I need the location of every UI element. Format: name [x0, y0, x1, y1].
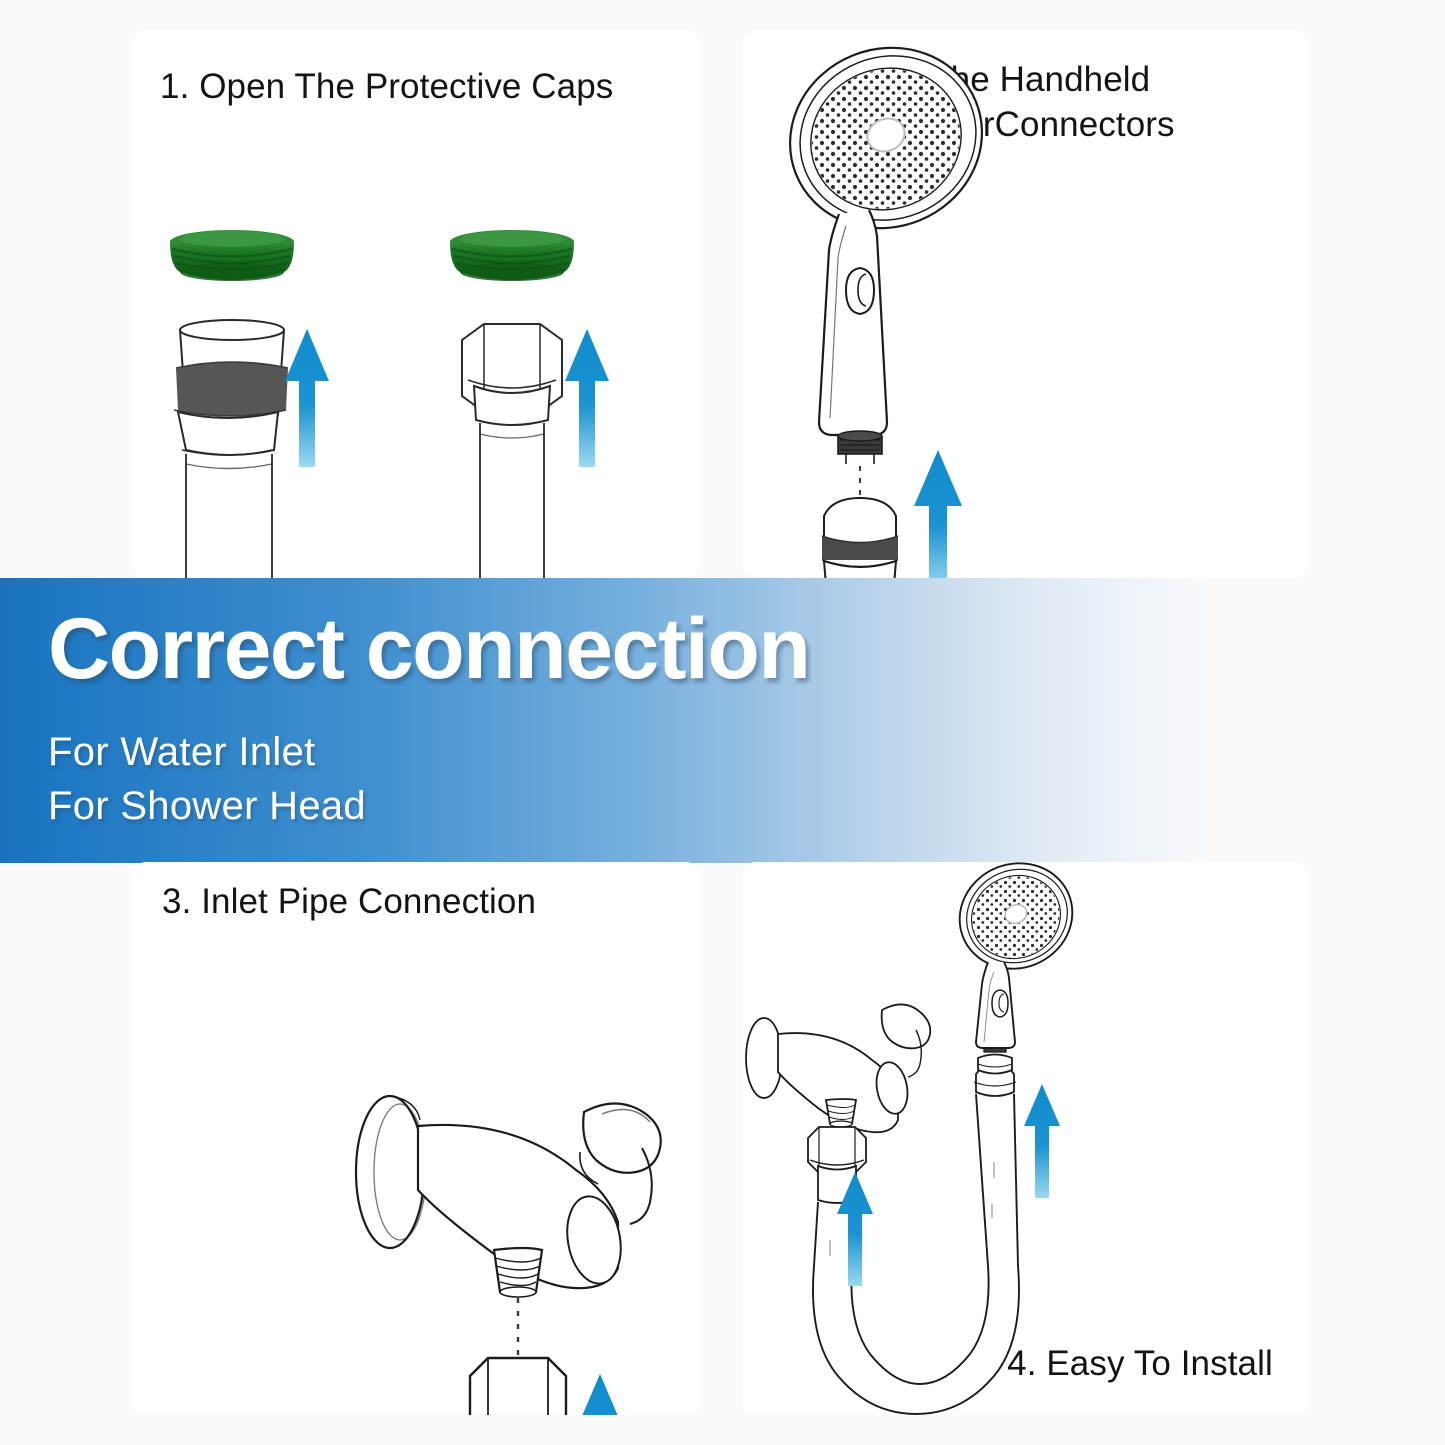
banner-title: Correct connection	[48, 600, 809, 699]
hose-connector-icon	[822, 498, 898, 578]
wall-valve-icon-step-4	[746, 1004, 930, 1132]
panel-step-4: 4. Easy To Install	[742, 862, 1308, 1415]
panel-title-step-1: 1. Open The Protective Caps	[160, 65, 613, 110]
hex-nut-icon-step-4	[808, 1127, 866, 1203]
panel-step-1: 1. Open The Protective Caps	[132, 30, 700, 578]
up-arrow-icon-step-4-left	[837, 1172, 873, 1286]
panel-step-2: 2.The Handheld ShowerConnectors	[742, 30, 1308, 578]
hex-nut-icon-right	[462, 324, 562, 578]
instruction-sheet: 1. Open The Protective Caps	[0, 0, 1445, 1445]
inlet-connector-left	[174, 320, 288, 578]
hex-nut-icon-step-3	[470, 1358, 566, 1415]
banner-subtitle-water-inlet: For Water Inlet	[48, 730, 316, 775]
panel-title-step-4-text: 4. Easy To Install	[777, 1344, 1273, 1383]
up-arrow-icon-step-2	[914, 450, 962, 578]
illustration-step-4	[742, 862, 1308, 1415]
wall-valve-icon	[356, 1096, 661, 1297]
illustration-step-3	[132, 862, 700, 1415]
handheld-shower-head-icon-step-4	[944, 862, 1089, 1048]
hose-coupling-icon	[974, 1038, 1016, 1096]
panel-title-step-4: 4. Easy To Install	[742, 1342, 1308, 1387]
up-arrow-icon-step-4-right	[1024, 1084, 1060, 1198]
correct-connection-banner: Correct connection For Water Inlet For S…	[0, 578, 1205, 863]
up-arrow-icon-step-3	[576, 1374, 624, 1415]
panel-title-step-2-line-2: ShowerConnectors	[875, 105, 1174, 144]
panel-title-step-2-line-1: 2.The Handheld	[900, 60, 1150, 99]
panel-title-step-3: 3. Inlet Pipe Connection	[162, 880, 536, 925]
banner-subtitle-shower-head: For Shower Head	[48, 784, 366, 829]
panel-title-step-2: 2.The Handheld ShowerConnectors	[742, 58, 1308, 148]
illustration-step-1	[132, 30, 700, 578]
green-threaded-cap-icon-left	[170, 230, 294, 281]
panel-step-3: 3. Inlet Pipe Connection	[132, 862, 700, 1415]
up-arrow-icon-left-1	[285, 329, 329, 467]
green-threaded-cap-icon-right	[450, 230, 574, 281]
up-arrow-icon-right-1	[565, 329, 609, 467]
